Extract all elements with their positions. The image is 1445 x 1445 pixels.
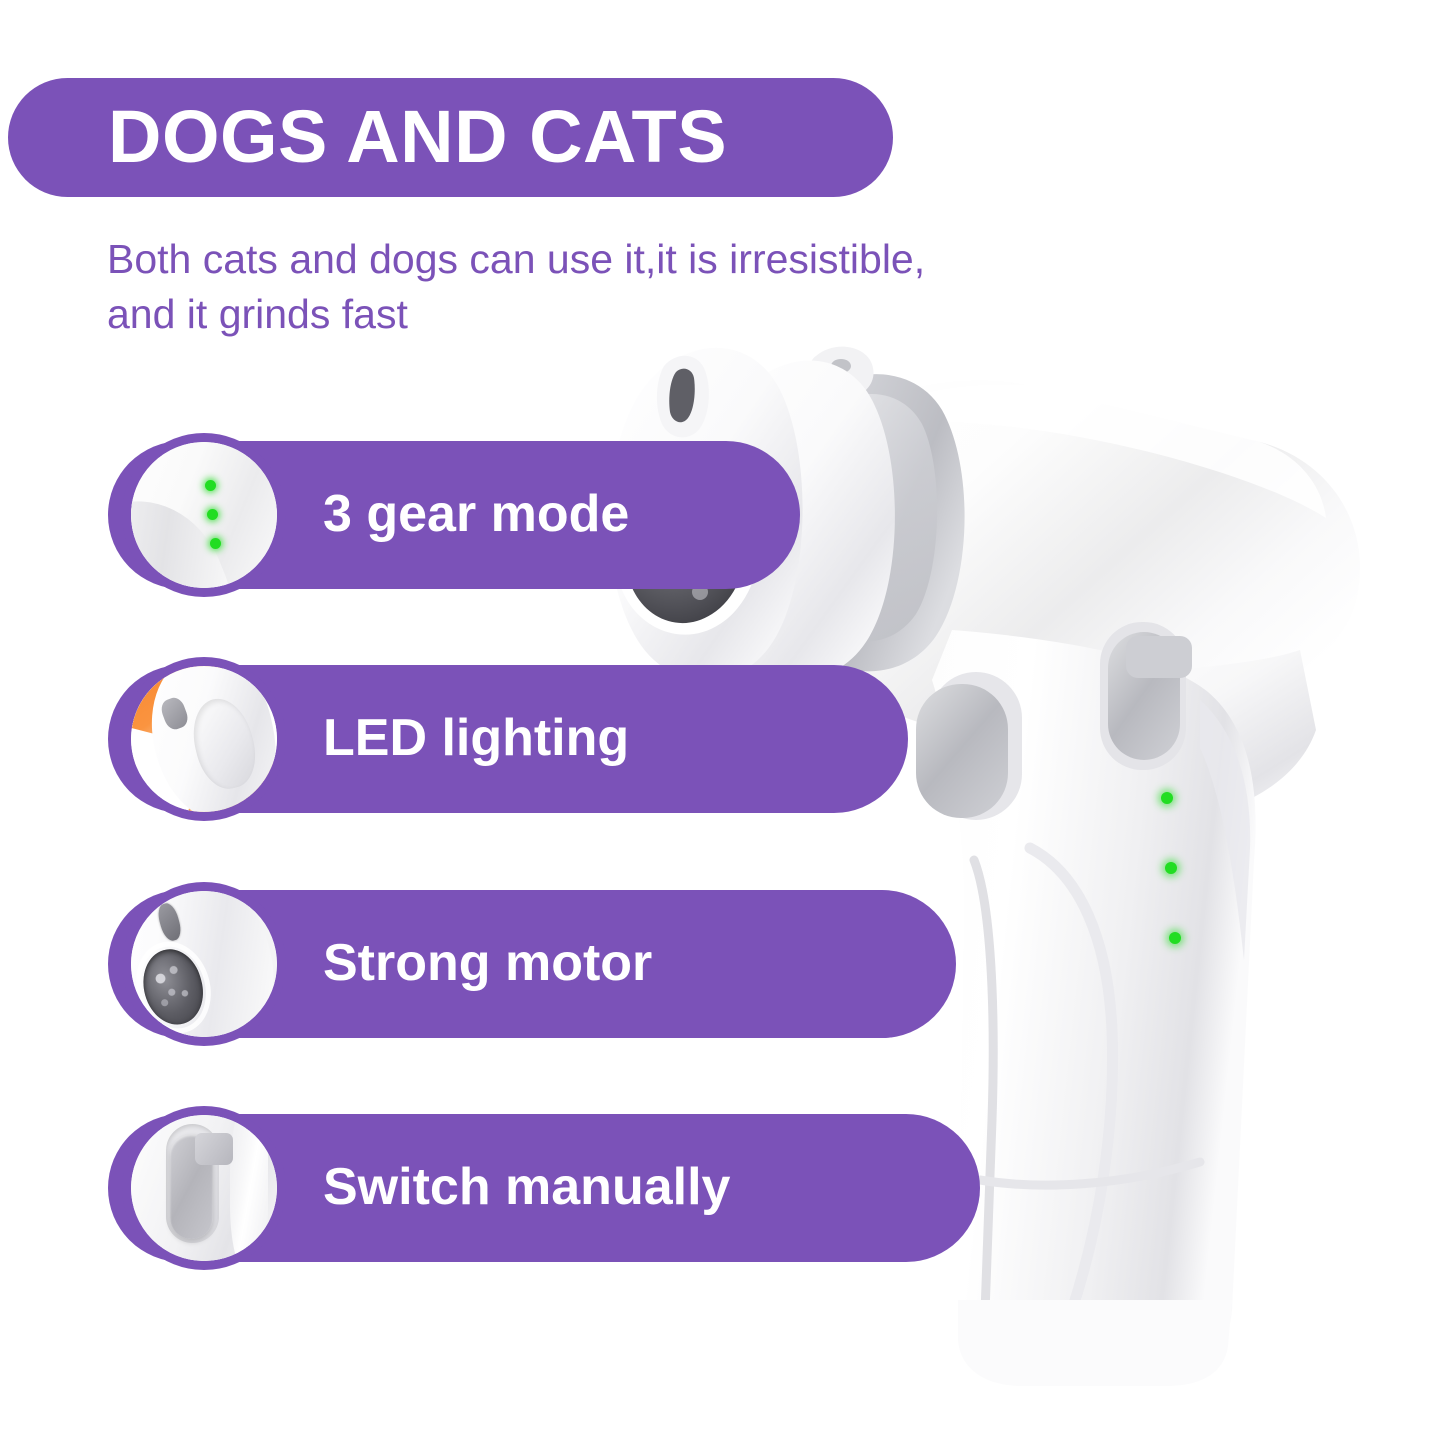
led-indicator-3 bbox=[1169, 932, 1181, 944]
switch-tab[interactable] bbox=[1126, 636, 1192, 678]
feature-label: Strong motor bbox=[323, 933, 652, 993]
feature-thumbnail-led-light-glow bbox=[122, 657, 286, 821]
title-pill: DOGS AND CATS bbox=[8, 78, 893, 197]
feature-thumbnail-manual-slide-switch bbox=[122, 1106, 286, 1270]
feature-row-3-gear-mode[interactable]: 3 gear mode bbox=[108, 441, 800, 589]
feature-row-strong-motor[interactable]: Strong motor bbox=[108, 890, 956, 1038]
thumb-switch-tab bbox=[195, 1133, 233, 1165]
feature-label: 3 gear mode bbox=[323, 484, 629, 544]
thumb-led-dot-2 bbox=[207, 509, 218, 520]
led-indicator-2 bbox=[1165, 862, 1177, 874]
feature-row-led-lighting[interactable]: LED lighting bbox=[108, 665, 908, 813]
feature-thumbnail-three-led-gear-indicator bbox=[122, 433, 286, 597]
trigger-button[interactable] bbox=[916, 684, 1008, 818]
feature-label: Switch manually bbox=[323, 1157, 730, 1217]
page-title: DOGS AND CATS bbox=[108, 93, 727, 178]
feature-label: LED lighting bbox=[323, 708, 629, 768]
feature-thumbnail-grinder-head-motor bbox=[122, 882, 286, 1046]
subtitle-line-1: Both cats and dogs can use it,it is irre… bbox=[107, 232, 1087, 287]
infographic-page: DOGS AND CATS Both cats and dogs can use… bbox=[0, 0, 1445, 1445]
feature-row-switch-manually[interactable]: Switch manually bbox=[108, 1114, 980, 1262]
handle-bottom-cap bbox=[958, 1300, 1232, 1386]
led-indicator-1 bbox=[1161, 792, 1173, 804]
